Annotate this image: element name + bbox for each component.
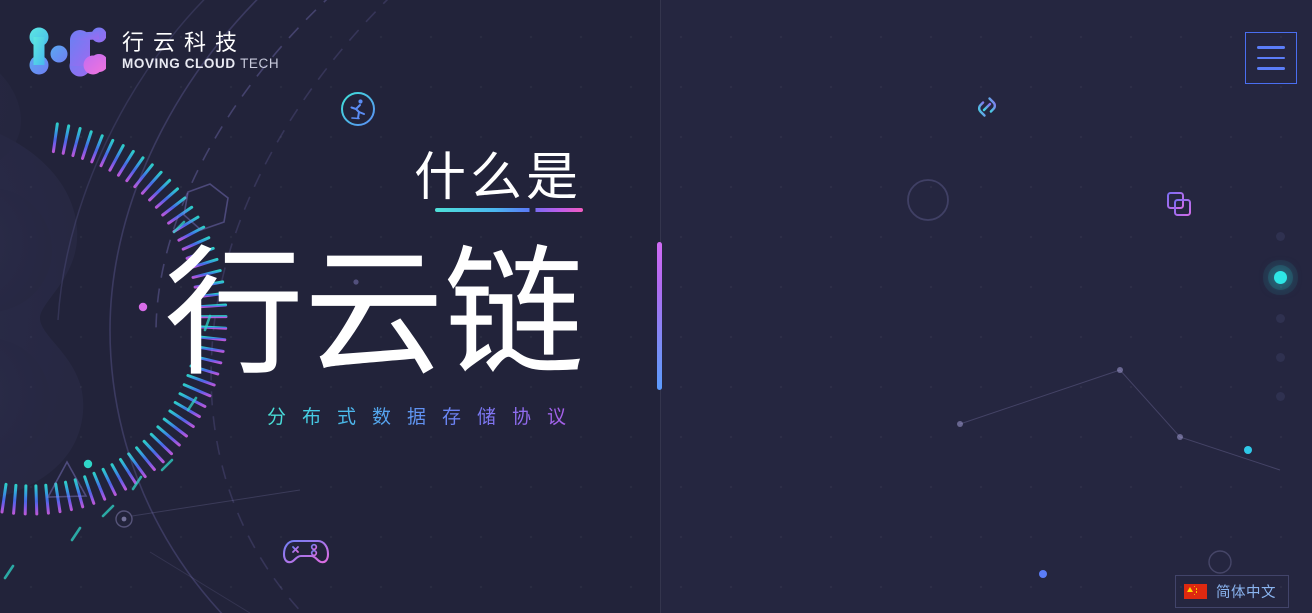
page-root: 行云科技 MOVING CLOUD TECH [0, 0, 1312, 613]
language-label: 简体中文 [1216, 581, 1276, 602]
slide-dot-nav[interactable] [1274, 232, 1287, 401]
dot-nav-item-3[interactable] [1276, 353, 1285, 362]
dot-nav-item-0[interactable] [1276, 232, 1285, 241]
panel-divider-accent [657, 242, 662, 390]
dot-nav-item-2[interactable] [1276, 314, 1285, 323]
gamepad-icon[interactable] [280, 528, 332, 572]
deco-node-b [1117, 367, 1123, 373]
deco-circle-large [908, 180, 948, 220]
running-person-icon[interactable] [338, 89, 378, 129]
hero-block: 什么是 行云链 分布式数据存储协议 [0, 0, 640, 613]
deco-circle-small [1209, 551, 1231, 573]
dot-nav-item-1[interactable] [1274, 271, 1287, 284]
brand-name-en-soft: TECH [240, 56, 279, 71]
dot-nav-item-4[interactable] [1276, 392, 1285, 401]
brand-name-cn: 行云科技 [122, 30, 279, 55]
hamburger-bar-1 [1257, 46, 1285, 49]
china-flag-icon [1184, 584, 1207, 599]
hero-title: 行云链 [164, 230, 584, 398]
deco-polyline [960, 370, 1280, 470]
hamburger-bar-3 [1257, 67, 1285, 70]
brand-wordmark: 行云科技 MOVING CLOUD TECH [122, 30, 279, 71]
deco-dot-cyan [1244, 446, 1252, 454]
deco-node-a [957, 421, 963, 427]
brand-name-en: MOVING CLOUD TECH [122, 57, 279, 72]
hamburger-menu-icon[interactable] [1245, 32, 1297, 84]
hero-eyebrow-underline [435, 208, 583, 212]
hamburger-bar-2 [1257, 57, 1285, 60]
language-selector[interactable]: 简体中文 [1175, 575, 1289, 608]
deco-node-c [1177, 434, 1183, 440]
left-hero-panel: 行云科技 MOVING CLOUD TECH [0, 0, 660, 613]
brand-name-en-bold: MOVING CLOUD [122, 56, 236, 71]
copy-layers-icon[interactable] [1163, 188, 1195, 220]
molecule-nodes-logo-icon [28, 25, 106, 77]
deco-dot-blue [1039, 570, 1047, 578]
hero-eyebrow: 什么是 [414, 152, 582, 204]
hero-subtitle: 分布式数据存储协议 [267, 402, 582, 429]
chain-link-icon[interactable] [972, 92, 1002, 122]
brand-logo[interactable]: 行云科技 MOVING CLOUD TECH [28, 25, 279, 77]
